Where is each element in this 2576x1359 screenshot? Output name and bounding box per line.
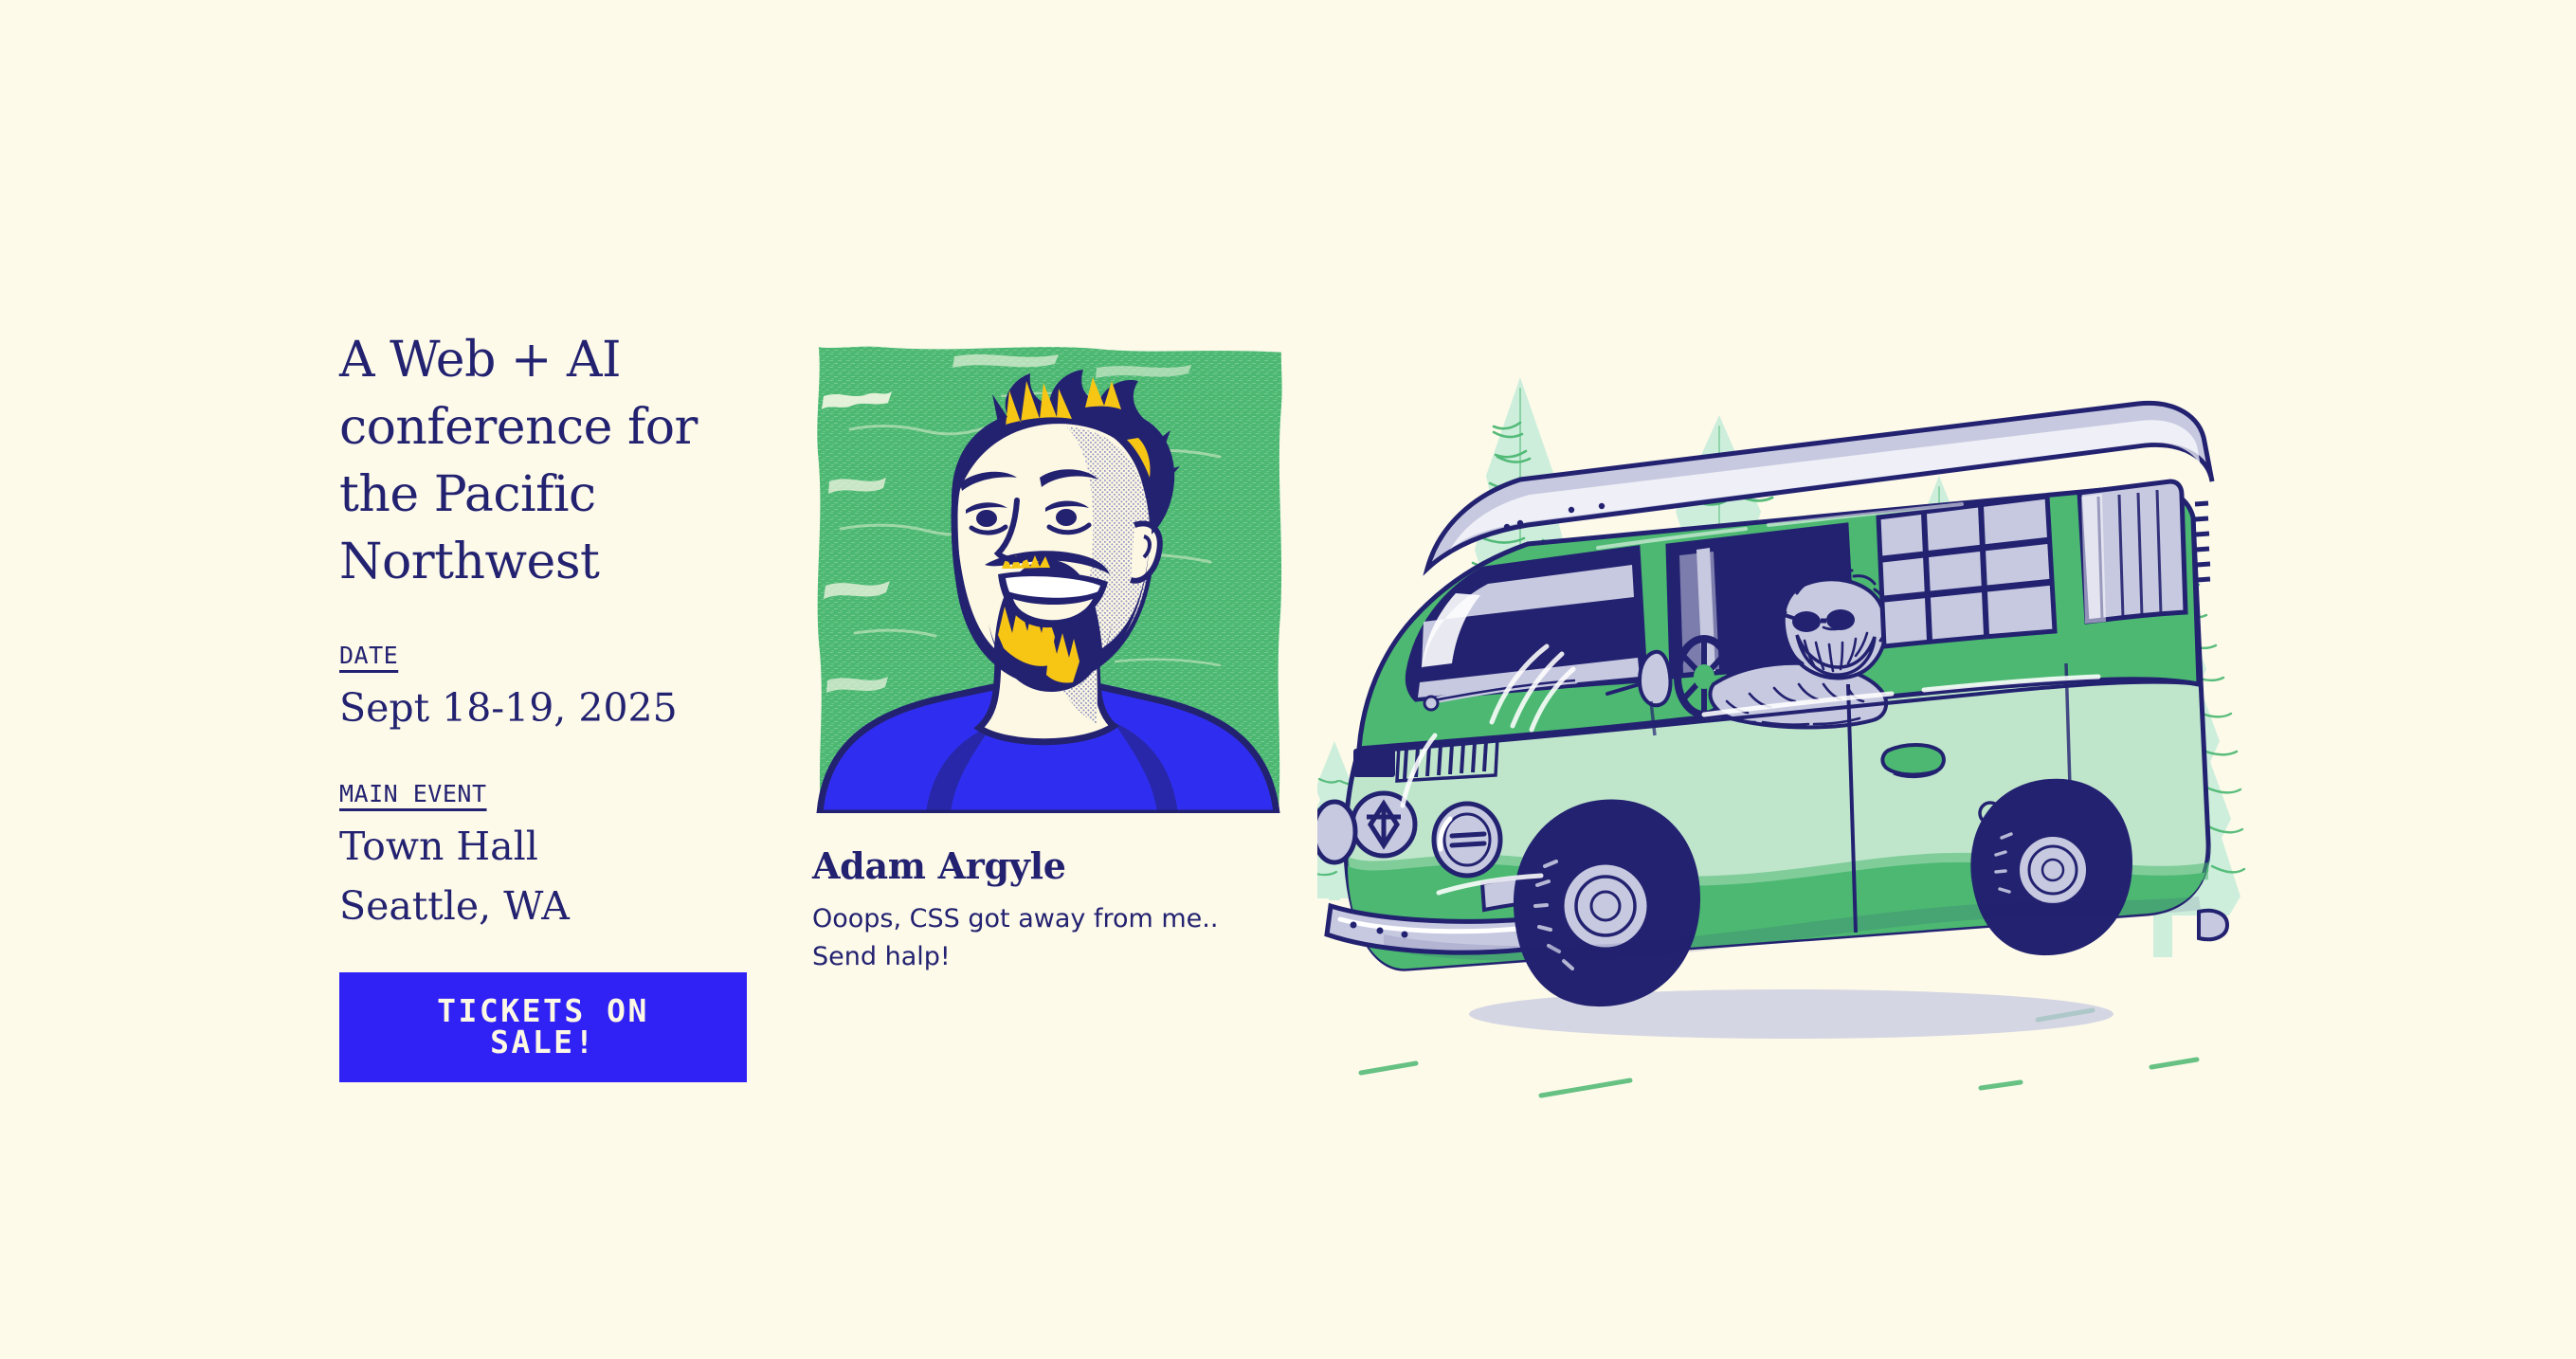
detail-label-main-event: MAIN EVENT — [339, 780, 487, 807]
speaker-card[interactable]: Adam Argyle Ooops, CSS got away from me.… — [812, 339, 1286, 976]
hero-info-column: A Web + AI conference for the Pacific No… — [339, 327, 747, 1082]
detail-main-event: MAIN EVENT Town Hall Seattle, WA — [339, 780, 747, 936]
detail-label-date: DATE — [339, 642, 398, 669]
camper-van-illustration — [1317, 256, 2275, 1166]
landing-page: A Web + AI conference for the Pacific No… — [0, 0, 2576, 1359]
tickets-on-sale-button[interactable]: TICKETS ON SALE! — [339, 972, 747, 1082]
speaker-portrait-image — [812, 339, 1286, 813]
detail-value-main-event: Town Hall Seattle, WA — [339, 817, 747, 936]
detail-value-date: Sept 18-19, 2025 — [339, 679, 747, 738]
speaker-tagline: Ooops, CSS got away from me.. Send halp! — [812, 900, 1286, 976]
page-title: A Web + AI conference for the Pacific No… — [339, 327, 747, 596]
detail-date: DATE Sept 18-19, 2025 — [339, 642, 747, 738]
speaker-name: Adam Argyle — [812, 844, 1286, 887]
